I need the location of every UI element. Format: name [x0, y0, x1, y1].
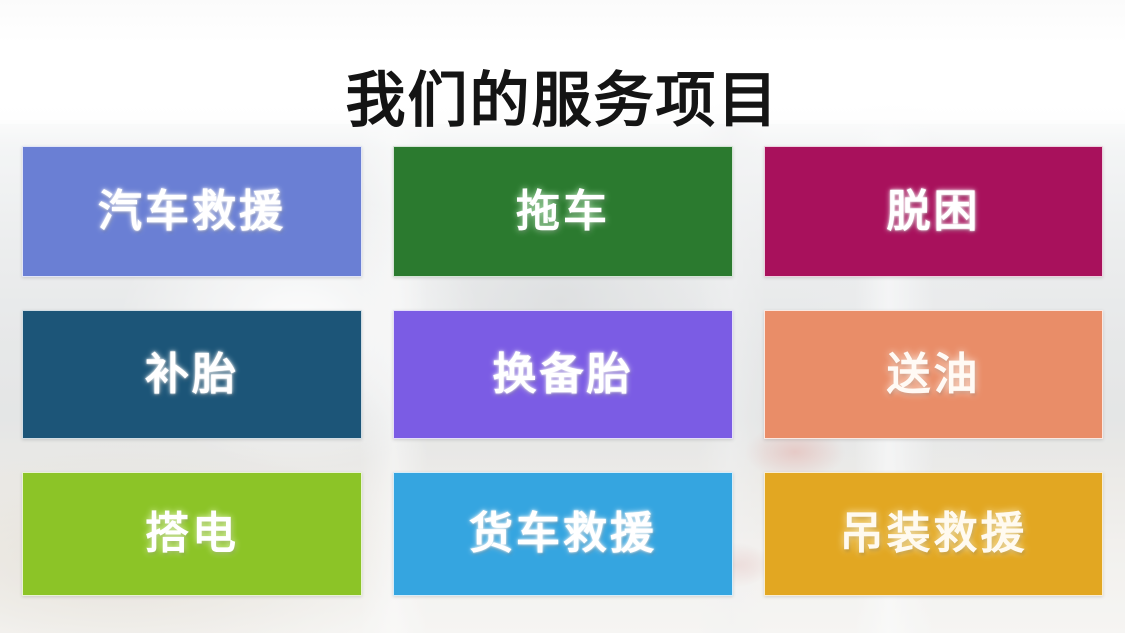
service-tile-label: 搭电 — [145, 512, 239, 556]
service-tile-spare-tire-change[interactable]: 换备胎 — [393, 310, 733, 439]
service-tile-extrication[interactable]: 脱困 — [764, 146, 1103, 277]
service-tile-towing[interactable]: 拖车 — [393, 146, 733, 277]
service-tile-crane-rescue[interactable]: 吊装救援 — [764, 472, 1103, 596]
service-tile-label: 货车救援 — [469, 512, 657, 556]
service-tile-label: 拖车 — [516, 190, 610, 234]
service-tile-fuel-delivery[interactable]: 送油 — [764, 310, 1103, 439]
service-menu-screen: 我们的服务项目 汽车救援 拖车 脱困 补胎 换备胎 送油 搭电 货车救援 吊装救… — [0, 0, 1125, 633]
service-tile-label: 送油 — [887, 353, 981, 397]
service-tile-car-rescue[interactable]: 汽车救援 — [22, 146, 362, 277]
service-tile-label: 补胎 — [145, 353, 239, 397]
service-tile-jump-start[interactable]: 搭电 — [22, 472, 362, 596]
service-tile-tire-repair[interactable]: 补胎 — [22, 310, 362, 439]
service-tile-label: 汽车救援 — [98, 190, 286, 234]
service-tile-label: 吊装救援 — [840, 512, 1028, 556]
service-tile-grid: 汽车救援 拖车 脱困 补胎 换备胎 送油 搭电 货车救援 吊装救援 — [22, 146, 1103, 596]
service-tile-truck-rescue[interactable]: 货车救援 — [393, 472, 733, 596]
service-tile-label: 脱困 — [887, 190, 981, 234]
service-tile-label: 换备胎 — [493, 353, 634, 397]
page-title: 我们的服务项目 — [0, 62, 1125, 140]
